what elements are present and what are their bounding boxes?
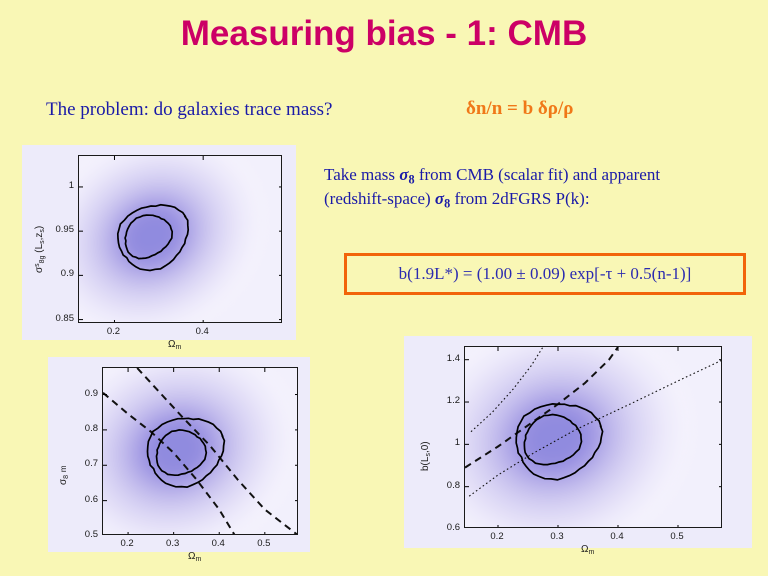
x-tick-label: 0.2 <box>117 538 137 549</box>
x-tick-label: 0.2 <box>103 326 123 337</box>
x-axis-label: Ωm <box>188 551 201 563</box>
y-tick-label: 1.2 <box>434 395 460 406</box>
y-tick-label: 0.8 <box>72 423 98 434</box>
y-tick-label: 0.85 <box>48 313 74 324</box>
y-tick-label: 0.7 <box>72 458 98 469</box>
x-tick-label: 0.2 <box>487 531 507 542</box>
y-axis-label: b(Ls,0) <box>420 441 432 471</box>
x-axis-label: Ωm <box>168 339 181 351</box>
boxed-equation-container: b(1.9L*) = (1.00 ± 0.09) exp[-τ + 0.5(n-… <box>344 253 746 295</box>
y-tick-label: 0.8 <box>434 480 460 491</box>
y-tick-label: 0.5 <box>72 529 98 540</box>
page-title: Measuring bias - 1: CMB <box>0 14 768 54</box>
sigma8-symbol-2: σ <box>435 189 444 208</box>
y-tick-label: 0.6 <box>434 522 460 533</box>
x-tick-label: 0.5 <box>667 531 687 542</box>
paragraph-line1-a: Take mass <box>324 165 399 184</box>
x-axis-label-sub: m <box>175 344 181 351</box>
x-tick-label: 0.5 <box>254 538 274 549</box>
boxed-equation-text: b(1.9L*) = (1.00 ± 0.09) exp[-τ + 0.5(n-… <box>399 264 692 284</box>
subtitle-text: The problem: do galaxies trace mass? <box>46 99 332 121</box>
plot-area <box>464 346 722 528</box>
y-tick-label: 1 <box>434 437 460 448</box>
slide-root: Measuring bias - 1: CMB The problem: do … <box>0 0 768 576</box>
paragraph-line2-a: (redshift-space) <box>324 189 435 208</box>
x-tick-label: 0.3 <box>547 531 567 542</box>
y-axis-label: σ8 m <box>58 465 70 485</box>
paragraph-line2-b: from 2dFGRS P(k): <box>450 189 589 208</box>
y-tick-label: 1 <box>48 180 74 191</box>
y-tick-label: 0.95 <box>48 224 74 235</box>
y-axis-label: σs8g (Ls,zs) <box>34 226 46 273</box>
x-tick-label: 0.4 <box>607 531 627 542</box>
x-tick-label: 0.4 <box>208 538 228 549</box>
chart-panel-sigma8g: 0.20.40.850.90.951Ωmσs8g (Ls,zs) <box>22 145 296 340</box>
y-tick-label: 1.4 <box>434 353 460 364</box>
y-tick-label: 0.6 <box>72 494 98 505</box>
x-axis-label: Ωm <box>581 544 594 556</box>
x-axis-label-sub: m <box>195 556 201 563</box>
chart-panel-bias: 0.20.30.40.50.60.811.21.4Ωmb(Ls,0) <box>404 336 752 548</box>
x-axis-label-sub: m <box>588 549 594 556</box>
explanatory-paragraph: Take mass σ8 from CMB (scalar fit) and a… <box>324 164 744 212</box>
y-tick-label: 0.9 <box>72 388 98 399</box>
paragraph-line1-b: from CMB (scalar fit) and apparent <box>415 165 660 184</box>
y-tick-label: 0.9 <box>48 268 74 279</box>
inline-equation: δn/n = b δρ/ρ <box>466 98 573 120</box>
x-tick-label: 0.3 <box>163 538 183 549</box>
x-tick-label: 0.4 <box>192 326 212 337</box>
chart-panel-sigma8m: 0.20.30.40.50.50.60.70.80.9Ωmσ8 m <box>48 357 310 552</box>
plot-area <box>78 155 282 323</box>
plot-area <box>102 367 298 535</box>
